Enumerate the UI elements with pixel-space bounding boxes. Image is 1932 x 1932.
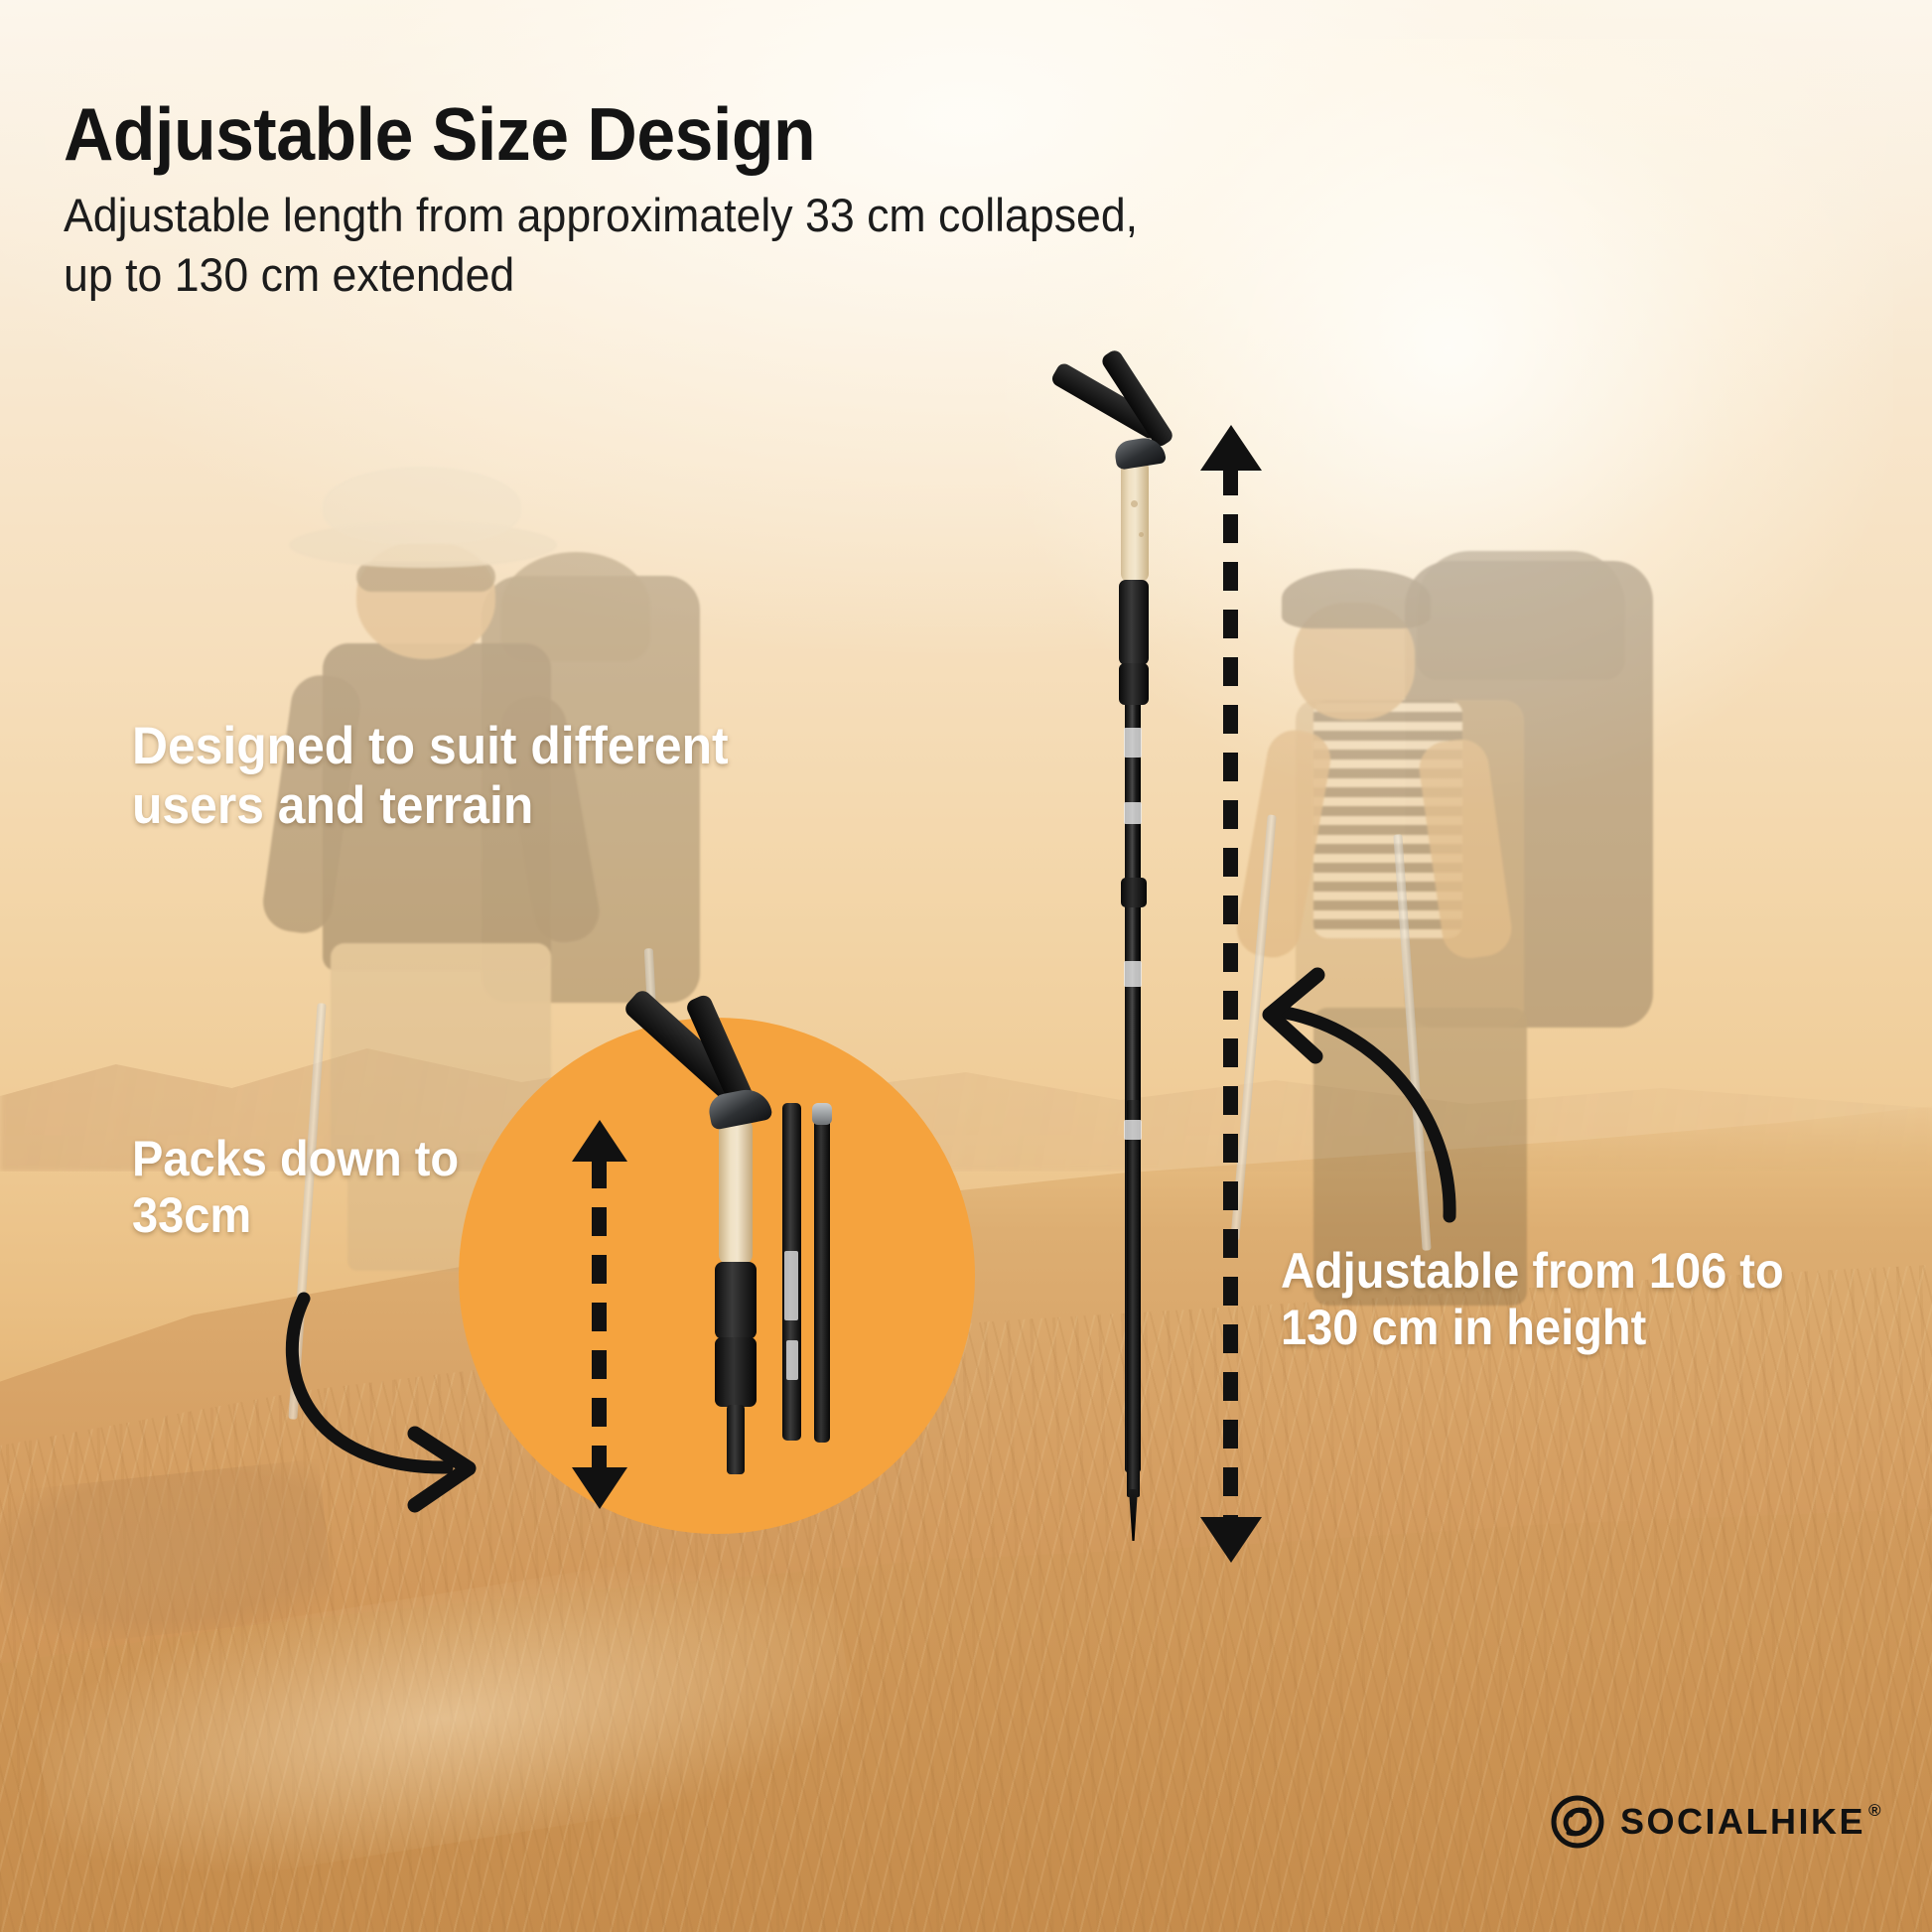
registered-mark: ®: [1868, 1801, 1881, 1821]
curved-arrow-right: [1246, 953, 1564, 1241]
arrow-head-down-icon: [1200, 1517, 1262, 1563]
arrow-head-down-icon: [572, 1467, 627, 1509]
dashed-measure-line: [592, 1160, 607, 1467]
pole-extended-decal: [1124, 802, 1142, 824]
arrow-head-up-icon: [572, 1120, 627, 1162]
brand-name: SOCIALHIKE: [1620, 1801, 1865, 1843]
pole-collapsed-rod-cap: [812, 1103, 832, 1125]
pole-collapsed-cork-grip: [719, 1115, 753, 1264]
header-block: Adjustable Size Design Adjustable length…: [64, 97, 1553, 305]
pole-extended-foam-extension: [1119, 580, 1149, 665]
pole-collapsed-rod-2: [814, 1115, 830, 1443]
pole-extended-decal: [1124, 728, 1142, 758]
pole-extended-lower-shaft: [1127, 1100, 1140, 1497]
pole-collapsed-decal: [786, 1340, 798, 1380]
pole-collapsed-lock: [715, 1337, 757, 1407]
subtitle-line-2: up to 130 cm extended: [64, 245, 1478, 305]
hiker-left-hat: [323, 467, 521, 544]
dashed-measure-line: [1223, 467, 1238, 1519]
callout-height-range: Adjustable from 106 to 130 cm in height: [1281, 1243, 1860, 1356]
product-pole-extended: [1077, 405, 1196, 1567]
arrow-head-up-icon: [1200, 425, 1262, 471]
callout-designed-to-suit: Designed to suit different users and ter…: [132, 717, 841, 837]
pole-extended-tip: [1129, 1489, 1138, 1541]
spiral-s-monogram-icon: [1551, 1795, 1604, 1849]
subtitle-line-1: Adjustable length from approximately 33 …: [64, 186, 1478, 245]
pole-collapsed-foam: [715, 1262, 757, 1339]
pole-extended-cork-grip: [1121, 457, 1149, 582]
infographic-canvas: Adjustable Size Design Adjustable length…: [0, 0, 1932, 1932]
pole-extended-decal: [1124, 961, 1142, 987]
hiker-right-bandana: [1282, 569, 1431, 628]
brand-logo: SOCIALHIKE ®: [1551, 1795, 1881, 1849]
cork-texture-dot: [1131, 500, 1138, 507]
pole-collapsed-decal: [784, 1251, 798, 1320]
curved-arrow-left: [199, 1221, 576, 1479]
cork-texture-dot: [1139, 532, 1144, 537]
page-title: Adjustable Size Design: [64, 97, 1449, 172]
pole-extended-decal: [1124, 1120, 1142, 1140]
pole-collapsed-tip-segment: [727, 1405, 745, 1474]
product-pole-collapsed: [635, 1077, 884, 1494]
pole-extended-lock-upper: [1119, 663, 1149, 705]
pole-extended-lock-lower: [1121, 878, 1147, 907]
